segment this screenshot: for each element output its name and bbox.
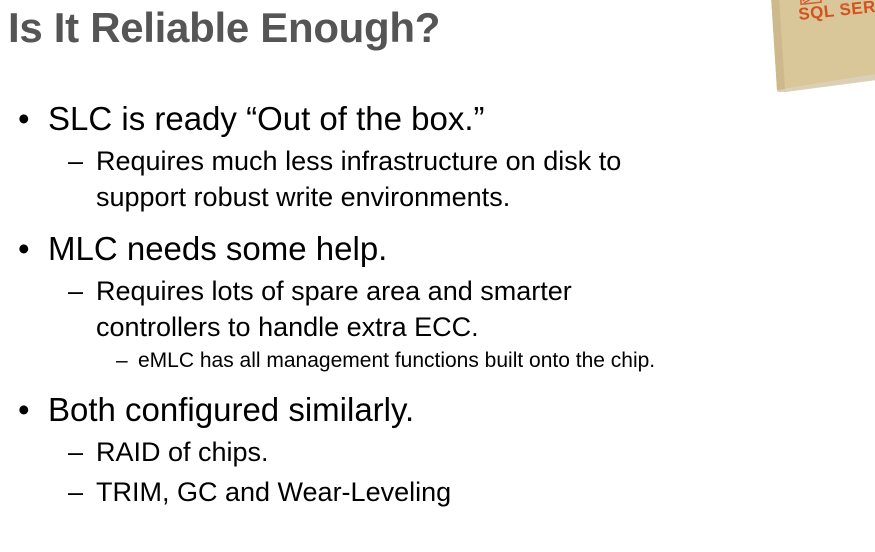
bullet-text-line2: controllers to handle extra ECC. — [96, 309, 875, 345]
box-label-text: SQL SER — [797, 0, 875, 24]
bullet-marker-dash: – — [68, 143, 83, 179]
bullet-item-level2: – TRIM, GC and Wear-Leveling — [0, 474, 875, 510]
bullet-item-level1: • SLC is ready “Out of the box.” — [0, 95, 875, 143]
bullet-item-level1: • MLC needs some help. — [0, 225, 875, 273]
bullet-marker-dash: – — [116, 345, 128, 376]
svg-text:Wi: Wi — [840, 2, 849, 10]
bullet-marker-dot: • — [18, 95, 30, 143]
bullet-list: • SLC is ready “Out of the box.” – Requi… — [0, 93, 875, 510]
bullet-text: SLC is ready “Out of the box.” — [48, 95, 875, 143]
bullet-item-level2: – Requires much less infrastructure on d… — [0, 143, 875, 215]
bullet-text-line2: support robust write environments. — [96, 179, 875, 215]
presentation-slide: SQL SER Wi Is It Reliable Enough? • SLC … — [0, 0, 875, 552]
bullet-text: Both configured similarly. — [48, 386, 875, 434]
bullet-marker-dot: • — [18, 225, 30, 273]
page-title: Is It Reliable Enough? — [8, 2, 440, 54]
bullet-item-level2: – Requires lots of spare area and smarte… — [0, 273, 875, 345]
spacer — [0, 215, 875, 223]
bullet-item-level3: – eMLC has all management functions buil… — [0, 345, 875, 376]
bullet-text-line1: Requires much less infrastructure on dis… — [96, 143, 875, 179]
bullet-text: RAID of chips. — [96, 434, 875, 470]
sql-server-box-image: SQL SER Wi — [757, 0, 875, 92]
bullet-text: MLC needs some help. — [48, 225, 875, 273]
bullet-item-level2: – RAID of chips. — [0, 434, 875, 470]
bullet-marker-dash: – — [68, 474, 83, 510]
bullet-text: eMLC has all management functions built … — [138, 345, 875, 376]
bullet-item-level1: • Both configured similarly. — [0, 386, 875, 434]
bullet-text: TRIM, GC and Wear-Leveling — [96, 474, 875, 510]
bullet-marker-dash: – — [68, 273, 83, 309]
spacer — [0, 376, 875, 384]
bullet-text-line1: Requires lots of spare area and smarter — [96, 273, 875, 309]
bullet-marker-dot: • — [18, 386, 30, 434]
bullet-marker-dash: – — [68, 434, 83, 470]
